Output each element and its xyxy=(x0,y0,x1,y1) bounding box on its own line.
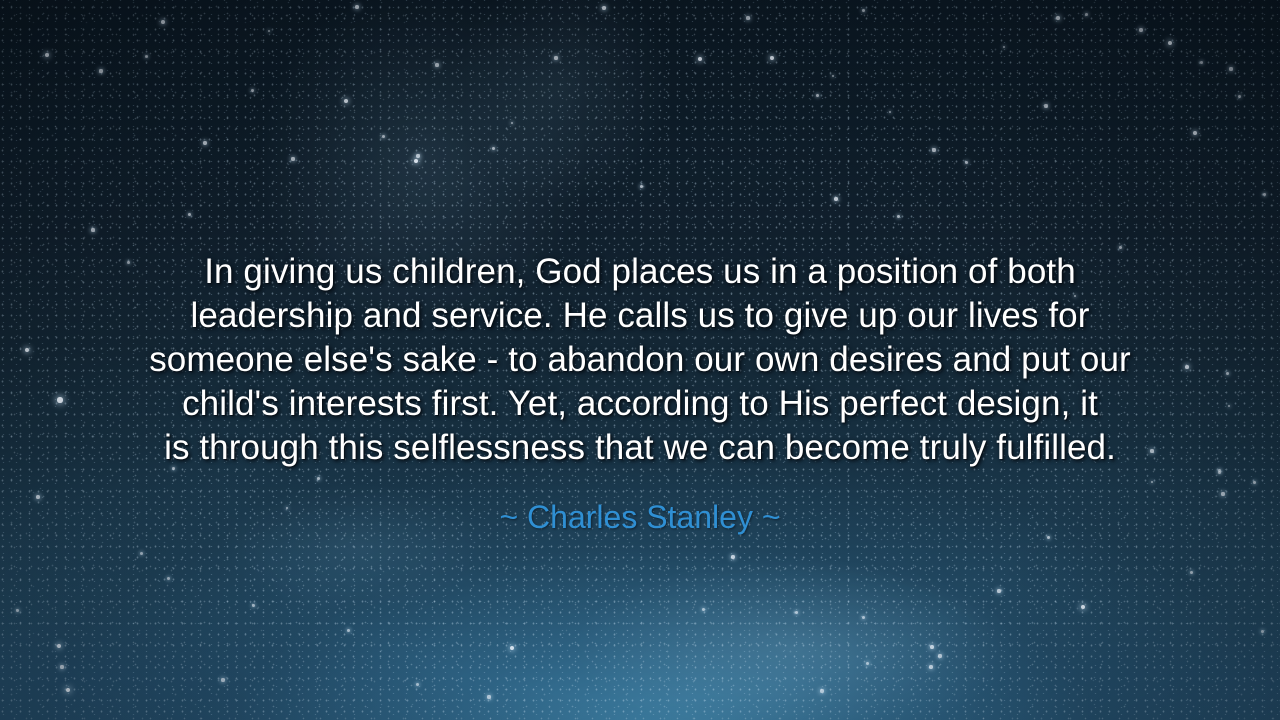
quote-card: In giving us children, God places us in … xyxy=(0,0,1280,720)
quote-text-block: In giving us children, God places us in … xyxy=(0,250,1280,470)
quote-line: someone else's sake - to abandon our own… xyxy=(0,338,1280,382)
quote-line: In giving us children, God places us in … xyxy=(0,250,1280,294)
quote-line: is through this selflessness that we can… xyxy=(0,426,1280,470)
quote-line: child's interests first. Yet, according … xyxy=(0,382,1280,426)
quote-line: leadership and service. He calls us to g… xyxy=(0,294,1280,338)
quote-attribution: ~ Charles Stanley ~ xyxy=(0,498,1280,536)
